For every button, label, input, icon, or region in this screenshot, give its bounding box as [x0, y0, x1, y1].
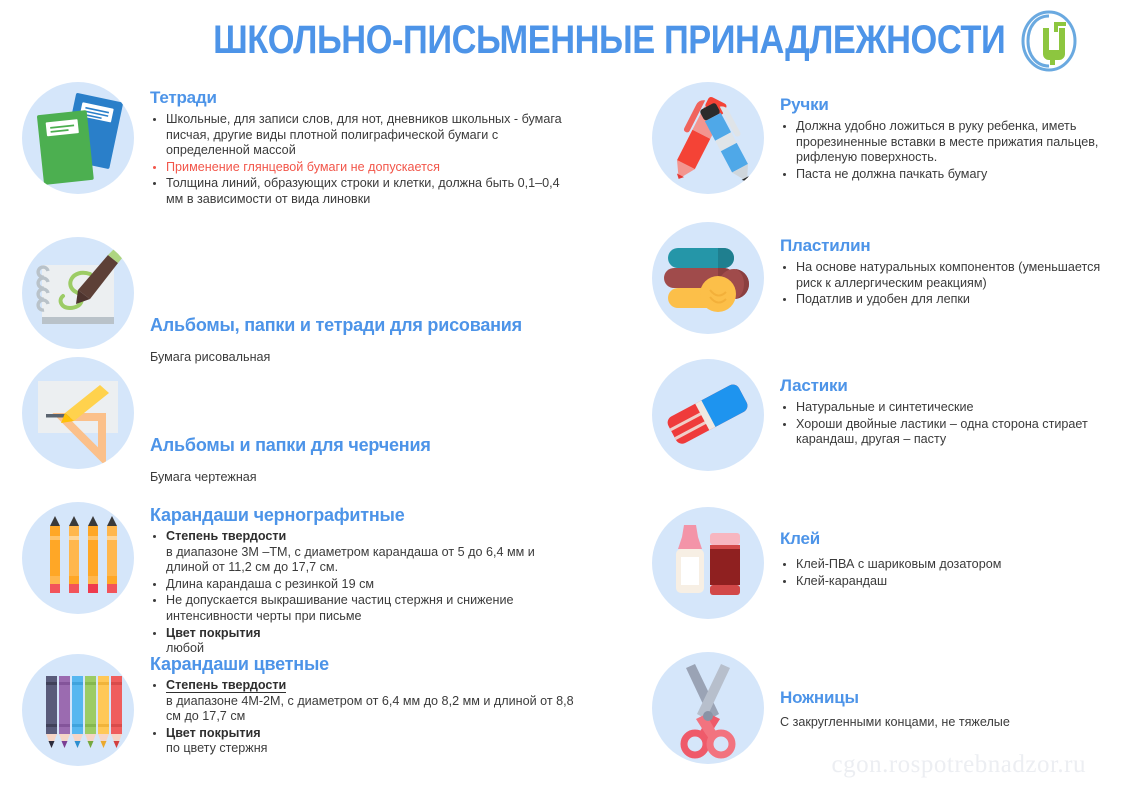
- section-title: Ластики: [780, 376, 1110, 396]
- list-item-warning: Применение глянцевой бумаги не допускает…: [150, 160, 580, 176]
- section-title: Альбомы, папки и тетради для рисования: [150, 315, 580, 335]
- list-item: Натуральные и синтетические: [780, 400, 1110, 416]
- scissors-icon: [652, 652, 764, 764]
- list-item-lead: Цвет покрытия: [166, 726, 261, 740]
- list-item: Не допускается выкрашивание частиц стерж…: [150, 593, 580, 624]
- bullet-list: На основе натуральных компонентов (умень…: [780, 260, 1110, 308]
- glue-icon: [652, 507, 764, 619]
- plasticine-icon: [652, 222, 764, 334]
- section-title: Карандаши цветные: [150, 654, 580, 674]
- erasers-text: Ластики Натуральные и синтетические Хоро…: [780, 376, 1110, 449]
- colored-pencils-icon: [22, 654, 134, 766]
- section-title: Ножницы: [780, 688, 1110, 708]
- section-title: Тетради: [150, 88, 580, 108]
- list-item-lead: Цвет покрытия: [166, 626, 261, 640]
- watermark: cgon.rospotrebnadzor.ru: [832, 751, 1086, 779]
- sketchpad-pencil-icon: [22, 237, 134, 349]
- section-body: С закругленными концами, не тяжелые: [780, 714, 1110, 730]
- eraser-icon: [652, 359, 764, 471]
- notebooks-text: Тетради Школьные, для записи слов, для н…: [150, 88, 580, 209]
- list-item-sub: по цвету стержня: [166, 741, 580, 757]
- list-item: Длина карандаша с резинкой 19 см: [150, 577, 580, 593]
- list-item-lead: Степень твердости: [166, 529, 286, 543]
- bullet-list: Натуральные и синтетические Хороши двойн…: [780, 400, 1110, 448]
- section-title: Альбомы и папки для черчения: [150, 435, 580, 455]
- section-body: Бумага чертежная: [150, 469, 580, 485]
- glue-text: Клей Клей-ПВА с шариковым дозатором Клей…: [780, 529, 1110, 590]
- list-item-sub: в диапазоне 3М –ТМ, с диаметром карандаш…: [166, 545, 580, 576]
- scissors-text: Ножницы С закругленными концами, не тяже…: [780, 688, 1110, 730]
- list-item: Толщина линий, образующих строки и клетк…: [150, 176, 580, 207]
- notebooks-icon: [22, 82, 134, 194]
- pens-text: Ручки Должна удобно ложиться в руку ребе…: [780, 95, 1110, 183]
- bullet-list: Школьные, для записи слов, для нот, днев…: [150, 112, 580, 208]
- list-item: Клей-карандаш: [780, 574, 1110, 590]
- graphite-pencils-icon: [22, 502, 134, 614]
- plasticine-text: Пластилин На основе натуральных компонен…: [780, 236, 1110, 309]
- list-item: Паста не должна пачкать бумагу: [780, 167, 1110, 183]
- poster-header: ШКОЛЬНО-ПИСЬМЕННЫЕ ПРИНАДЛЕЖНОСТИ: [0, 0, 1122, 80]
- list-item: Клей-ПВА с шариковым дозатором: [780, 557, 1110, 573]
- section-body: Бумага рисовальная: [150, 349, 580, 365]
- bullet-list: Клей-ПВА с шариковым дозатором Клей-кара…: [780, 557, 1110, 589]
- bullet-list: Должна удобно ложиться в руку ребенка, и…: [780, 119, 1110, 182]
- section-title: Пластилин: [780, 236, 1110, 256]
- bullet-list: Степень твердости в диапазоне 4М-2М, с д…: [150, 678, 580, 757]
- list-item: Степень твердости в диапазоне 3М –ТМ, с …: [150, 529, 580, 576]
- drafting-albums-text: Альбомы и папки для черчения Бумага черт…: [150, 435, 580, 485]
- section-title: Карандаши чернографитные: [150, 505, 580, 525]
- page-title: ШКОЛЬНО-ПИСЬМЕННЫЕ ПРИНАДЛЕЖНОСТИ: [213, 18, 927, 63]
- list-item: Должна удобно ложиться в руку ребенка, и…: [780, 119, 1110, 166]
- bullet-list: Степень твердости в диапазоне 3М –ТМ, с …: [150, 529, 580, 657]
- drawing-albums-text: Альбомы, папки и тетради для рисования Б…: [150, 315, 580, 365]
- list-item: Степень твердости в диапазоне 4М-2М, с д…: [150, 678, 580, 725]
- list-item: Цвет покрытия по цвету стержня: [150, 726, 580, 757]
- drafting-triangle-icon: [22, 357, 134, 469]
- infographic-poster: ШКОЛЬНО-ПИСЬМЕННЫЕ ПРИНАДЛЕЖНОСТИ: [0, 0, 1122, 793]
- list-item-sub: в диапазоне 4М-2М, с диаметром от 6,4 мм…: [166, 694, 580, 725]
- list-item: Хороши двойные ластики – одна сторона ст…: [780, 417, 1110, 448]
- section-title: Ручки: [780, 95, 1110, 115]
- cgon-logo-icon: [1018, 10, 1080, 72]
- list-item: На основе натуральных компонентов (умень…: [780, 260, 1110, 291]
- pens-icon: [652, 82, 764, 194]
- list-item: Податлив и удобен для лепки: [780, 292, 1110, 308]
- list-item: Школьные, для записи слов, для нот, днев…: [150, 112, 580, 159]
- list-item-lead: Степень твердости: [166, 678, 286, 693]
- list-item: Цвет покрытия любой: [150, 626, 580, 657]
- graphite-pencils-text: Карандаши чернографитные Степень твердос…: [150, 505, 580, 658]
- colored-pencils-text: Карандаши цветные Степень твердости в ди…: [150, 654, 580, 758]
- section-title: Клей: [780, 529, 1110, 549]
